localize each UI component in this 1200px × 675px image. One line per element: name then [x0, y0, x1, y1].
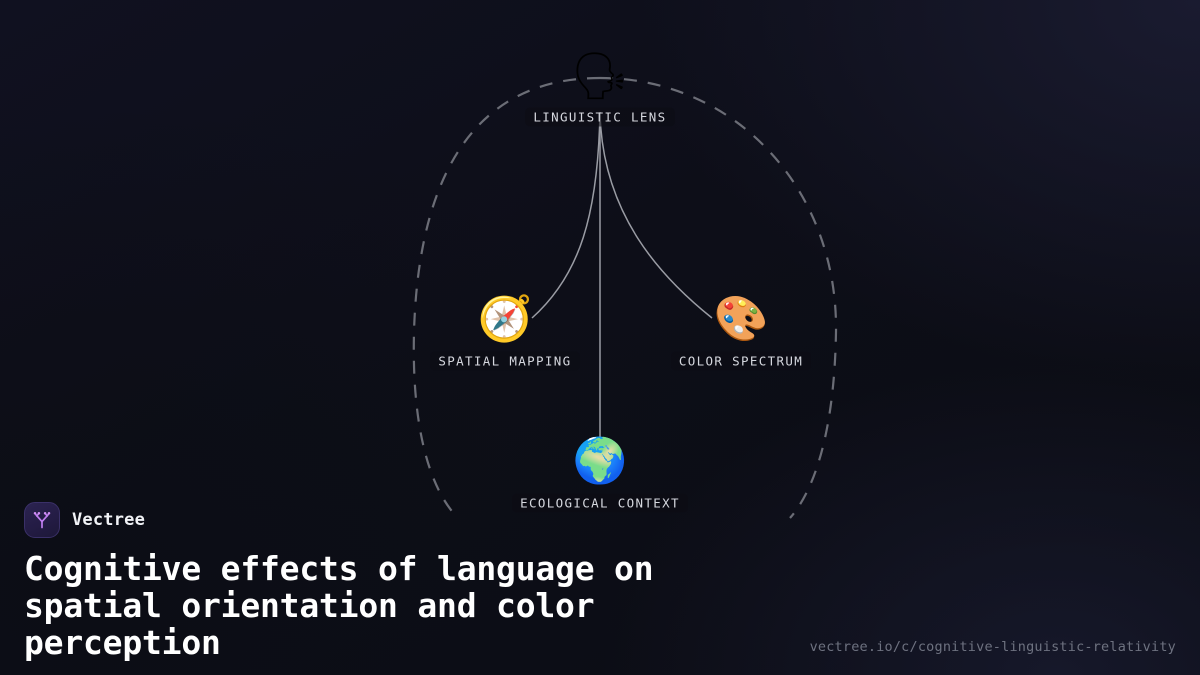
node-label: LINGUISTIC LENS	[525, 108, 674, 127]
speaking-head-icon: 🗣	[571, 50, 629, 102]
source-url: vectree.io/c/cognitive-linguistic-relati…	[810, 639, 1176, 655]
edge-root-to-children	[532, 112, 712, 452]
vectree-tree-logo-icon	[24, 502, 60, 538]
edge-color-spectrum	[600, 112, 712, 318]
compass-icon: 🧭	[478, 294, 533, 346]
concept-map-canvas: 🗣 LINGUISTIC LENS 🧭 SPATIAL MAPPING 🎨 CO…	[0, 0, 1200, 675]
node-label: SPATIAL MAPPING	[430, 352, 579, 371]
globe-europe-africa-icon: 🌍	[573, 436, 628, 488]
node-color-spectrum[interactable]: 🎨 COLOR SPECTRUM	[611, 294, 871, 371]
page-title: Cognitive effects of language on spatial…	[24, 550, 784, 661]
brand-name: Vectree	[72, 510, 145, 530]
node-linguistic-lens[interactable]: 🗣 LINGUISTIC LENS	[470, 50, 730, 127]
edge-spatial-mapping	[532, 112, 600, 318]
node-label: COLOR SPECTRUM	[671, 352, 811, 371]
artist-palette-icon: 🎨	[714, 294, 769, 346]
brand-lockup[interactable]: Vectree	[24, 502, 1176, 538]
node-spatial-mapping[interactable]: 🧭 SPATIAL MAPPING	[375, 294, 635, 371]
